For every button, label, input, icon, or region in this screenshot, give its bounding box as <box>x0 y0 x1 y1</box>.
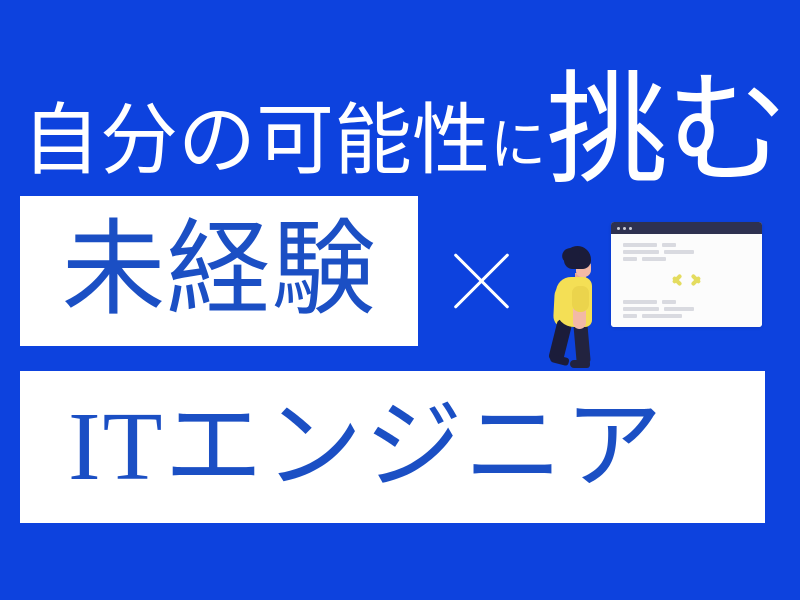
code-placeholder-row <box>623 300 750 304</box>
window-dot-3 <box>629 227 632 230</box>
code-placeholder-bar <box>662 243 676 247</box>
code-browser-window <box>611 222 762 327</box>
code-placeholder-row <box>623 307 750 311</box>
code-placeholder-row <box>623 257 750 261</box>
angle-bracket-left-icon <box>670 269 683 291</box>
code-brackets-icon <box>623 269 750 291</box>
headline-segment-1: 自分の可能性 <box>22 105 490 177</box>
browser-titlebar <box>611 222 762 234</box>
code-placeholder-row <box>623 243 750 247</box>
code-placeholder-bar <box>623 250 659 254</box>
badge-top: 未経験 <box>20 196 418 346</box>
multiply-cross-icon <box>443 243 519 319</box>
badge-top-label: 未経験 <box>61 219 376 323</box>
badge-bottom: ITエンジニア <box>20 371 765 523</box>
code-placeholder-bar <box>623 307 659 311</box>
person-shoe-front <box>570 360 590 368</box>
code-placeholder-row <box>623 314 750 318</box>
person-sleeve <box>572 286 589 312</box>
window-dot-2 <box>623 227 626 230</box>
code-placeholder-bar <box>623 243 657 247</box>
code-placeholder-bottom <box>623 300 750 318</box>
poster-canvas: 自分の可能性 に 挑む 未経験 <box>0 0 800 600</box>
person-shoe-back <box>549 354 569 366</box>
headline-segment-3: 挑む <box>546 80 786 185</box>
code-placeholder-bar <box>664 307 694 311</box>
badge-bottom-label: ITエンジニア <box>68 398 665 496</box>
code-placeholder-bar <box>642 257 666 261</box>
angle-bracket-right-icon <box>691 269 704 291</box>
code-placeholder-bar <box>623 300 657 304</box>
walking-person-illustration <box>548 246 606 368</box>
code-placeholder-bar <box>662 300 676 304</box>
headline-segment-2: に <box>490 121 546 173</box>
code-placeholder-top <box>623 243 750 261</box>
code-placeholder-row <box>623 250 750 254</box>
browser-content <box>611 234 762 327</box>
window-dot-1 <box>617 227 620 230</box>
code-placeholder-bar <box>664 250 694 254</box>
code-placeholder-bar <box>623 257 637 261</box>
code-placeholder-bar <box>623 314 637 318</box>
headline: 自分の可能性 に 挑む <box>22 52 782 177</box>
code-placeholder-bar <box>642 314 682 318</box>
